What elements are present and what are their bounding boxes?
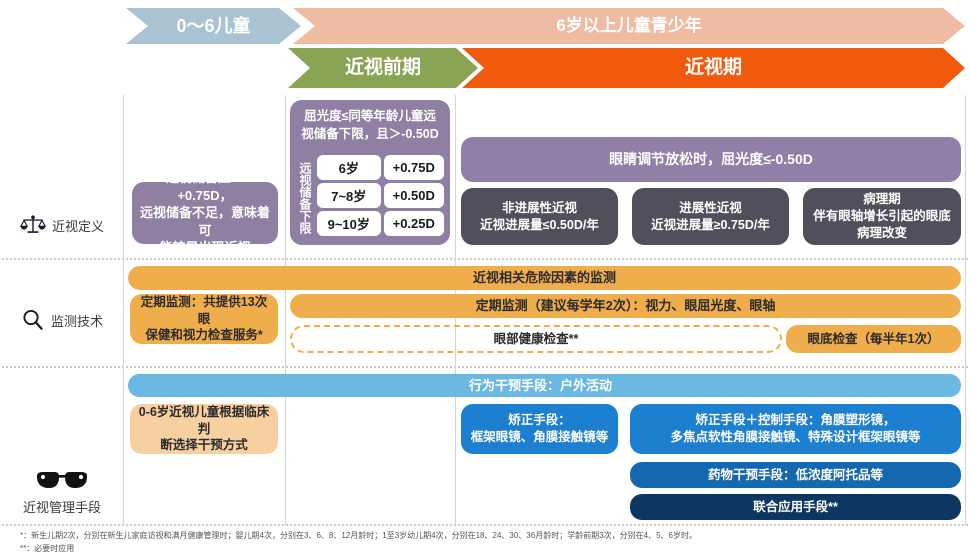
magnifier-icon xyxy=(21,308,45,332)
periodic-monitoring-banner: 定期监测（建议每学年2次）：视力、眼屈光度、眼轴 xyxy=(290,294,961,318)
reserve-definition-line-3: 能较早出现近视 xyxy=(159,239,250,257)
myopia-type-2-line-1: 病理期 xyxy=(863,191,901,208)
correction-premyopia-line-2: 框架眼镜、角膜接触镜等 xyxy=(471,429,609,446)
header-age-group-0-6-label: 0～6儿童 xyxy=(176,16,250,37)
row-divider-1 xyxy=(2,258,968,260)
drug-intervention-label: 药物干预手段：低浓度阿托品等 xyxy=(708,467,883,484)
periodic-monitoring-banner-label: 定期监测（建议每学年2次）：视力、眼屈光度、眼轴 xyxy=(476,297,776,315)
table-cell-value: +0.50D xyxy=(384,183,444,208)
myopia-type-pathological: 病理期 伴有眼轴增长引起的眼底 病理改变 xyxy=(803,188,961,245)
reserve-table-side-label: 远视储备下限 xyxy=(296,155,314,240)
row-divider-3 xyxy=(2,524,968,526)
myopia-type-0-line-1: 非进展性近视 xyxy=(502,200,577,217)
myopia-definition-banner: 眼睛调节放松时，屈光度≤-0.50D xyxy=(461,137,961,182)
rail-item-monitoring[interactable]: 监测技术 xyxy=(2,303,122,337)
fundus-check-box: 眼底检查（每半年1次） xyxy=(786,325,961,353)
premyopia-definition-card: 屈光度≤同等年龄儿童远 视储备下限，且＞-0.50D 远视储备下限 6岁 +0.… xyxy=(290,100,450,245)
myopia-type-0-line-2: 近视进展量≤0.50D/年 xyxy=(480,217,599,234)
myopia-type-nonprogressive: 非进展性近视 近视进展量≤0.50D/年 xyxy=(461,188,618,245)
myopia-type-1-line-1: 进展性近视 xyxy=(679,200,742,217)
correction-myopia-line-2: 多焦点软性角膜接触镜、特殊设计框架眼镜等 xyxy=(670,429,920,446)
header-age-group-6plus: 6岁以上儿童青少年 xyxy=(293,8,965,44)
myopia-type-2-line-2: 伴有眼轴增长引起的眼底 xyxy=(813,208,951,225)
reserve-definition-line-2: 远视储备不足，意味着可 xyxy=(140,204,270,239)
infographic-root: 0～6儿童 6岁以上儿童青少年 近视前期 近视期 近视定 xyxy=(0,0,970,560)
premyopia-title-line-2: 视储备下限，且＞-0.50D xyxy=(301,127,439,141)
myopia-type-1-line-2: 近视进展量≥0.75D/年 xyxy=(651,217,770,234)
rail-item-management-label: 近视管理手段 xyxy=(23,497,101,516)
management-0-6-line-1: 0-6岁近视儿童根据临床判 xyxy=(138,404,270,438)
reserve-definition-box: 远视储备应＞+0.75D， 远视储备不足，意味着可 能较早出现近视 xyxy=(132,182,278,244)
premyopia-definition-title: 屈光度≤同等年龄儿童远 视储备下限，且＞-0.50D xyxy=(290,100,450,147)
reserve-definition-line-1: 远视储备应＞+0.75D， xyxy=(140,169,270,204)
drug-intervention-box: 药物干预手段：低浓度阿托品等 xyxy=(630,462,961,488)
header-stage-myopia: 近视期 xyxy=(462,48,965,88)
table-cell-age: 9~10岁 xyxy=(317,211,381,236)
rail-item-definition[interactable]: 近视定义 xyxy=(2,208,122,242)
risk-monitoring-banner: 近视相关危险因素的监测 xyxy=(128,266,961,290)
combined-intervention-box: 联合应用手段** xyxy=(630,494,961,520)
eye-health-check-label: 眼部健康检查** xyxy=(494,331,579,348)
behavior-intervention-banner-label: 行为干预手段：户外活动 xyxy=(128,377,953,395)
correction-myopia-line-1: 矫正手段＋控制手段：角膜塑形镜， xyxy=(695,412,895,429)
header-stage-premyopia: 近视前期 xyxy=(288,48,478,88)
column-divider-rail xyxy=(123,95,124,525)
correction-control-myopia-box: 矫正手段＋控制手段：角膜塑形镜， 多焦点软性角膜接触镜、特殊设计框架眼镜等 xyxy=(630,404,961,454)
table-cell-age: 7~8岁 xyxy=(317,183,381,208)
table-row: 7~8岁 +0.50D xyxy=(317,183,444,208)
myopia-type-2-line-3: 病理改变 xyxy=(857,225,907,242)
table-cell-value: +0.75D xyxy=(384,155,444,180)
table-row: 6岁 +0.75D xyxy=(317,155,444,180)
rail-item-monitoring-label: 监测技术 xyxy=(51,311,103,330)
eye-health-check-box: 眼部健康检查** xyxy=(290,325,782,353)
footnote-2: **：必要时应用 xyxy=(20,543,74,555)
table-cell-value: +0.25D xyxy=(384,211,444,236)
rail-item-definition-label: 近视定义 xyxy=(52,216,104,235)
table-row: 9~10岁 +0.25D xyxy=(317,211,444,236)
management-0-6-box: 0-6岁近视儿童根据临床判 断选择干预方式 xyxy=(130,404,278,454)
behavior-intervention-banner: 行为干预手段：户外活动 xyxy=(128,374,961,397)
periodic-monitoring-0-6-box: 定期监测：共提供13次眼 保健和视力检查服务* xyxy=(130,294,278,344)
premyopia-title-line-1: 屈光度≤同等年龄儿童远 xyxy=(304,109,436,123)
header-stage-myopia-label: 近视期 xyxy=(685,57,742,79)
periodic-0-6-line-1: 定期监测：共提供13次眼 xyxy=(138,294,270,328)
myopia-definition-banner-label: 眼睛调节放松时，屈光度≤-0.50D xyxy=(609,150,813,169)
header-stage-premyopia-label: 近视前期 xyxy=(345,57,421,79)
periodic-0-6-line-2: 保健和视力检查服务* xyxy=(145,327,262,344)
management-0-6-line-2: 断选择干预方式 xyxy=(160,437,248,454)
risk-monitoring-banner-label: 近视相关危险因素的监测 xyxy=(473,269,616,287)
glasses-icon xyxy=(34,468,90,494)
reserve-lower-limit-table: 远视储备下限 6岁 +0.75D 7~8岁 +0.50D 9~10岁 +0.25… xyxy=(296,155,444,240)
fundus-check-label: 眼底检查（每半年1次） xyxy=(808,331,940,348)
combined-intervention-label: 联合应用手段** xyxy=(753,499,838,516)
scale-icon xyxy=(20,214,46,236)
header-age-group-6plus-label: 6岁以上儿童青少年 xyxy=(556,16,701,36)
correction-premyopia-box: 矫正手段： 框架眼镜、角膜接触镜等 xyxy=(461,404,618,454)
column-divider-0-6 xyxy=(285,95,286,525)
table-cell-age: 6岁 xyxy=(317,155,381,180)
myopia-type-progressive: 进展性近视 近视进展量≥0.75D/年 xyxy=(632,188,789,245)
footnote-1: *：新生儿期2次，分别在新生儿家庭访视和满月健康管理时；婴儿期4次，分别在3、6… xyxy=(20,530,697,542)
correction-premyopia-line-1: 矫正手段： xyxy=(508,412,571,429)
row-divider-2 xyxy=(2,366,968,368)
column-divider-right xyxy=(965,95,966,525)
reserve-table-grid: 6岁 +0.75D 7~8岁 +0.50D 9~10岁 +0.25D xyxy=(317,155,444,240)
header-age-group-0-6: 0～6儿童 xyxy=(126,8,301,44)
rail-item-management[interactable]: 近视管理手段 xyxy=(2,462,122,522)
